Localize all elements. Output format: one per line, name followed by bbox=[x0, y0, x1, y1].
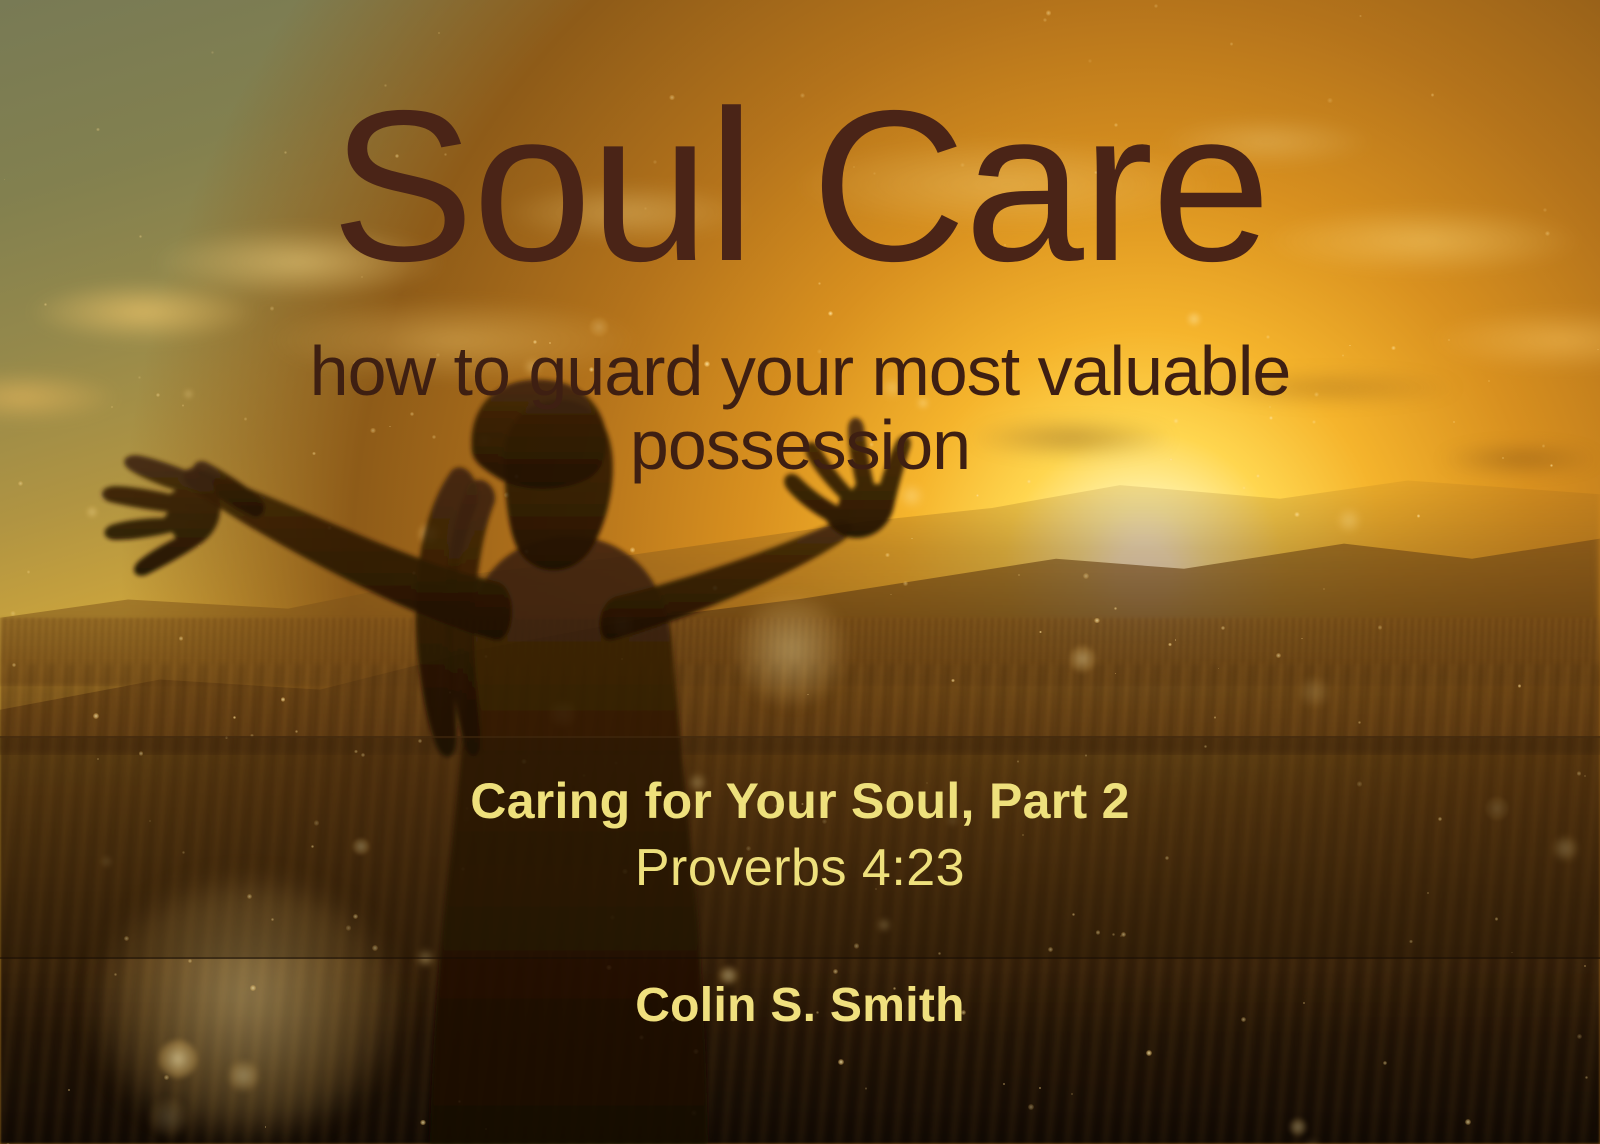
scripture-reference: Proverbs 4:23 bbox=[0, 838, 1600, 898]
series-title: Caring for Your Soul, Part 2 bbox=[0, 772, 1600, 830]
sermon-title-slide: Soul Care how to guard your most valuabl… bbox=[0, 0, 1600, 1144]
page-title: Soul Care bbox=[0, 78, 1600, 293]
page-subtitle: how to guard your most valuable possessi… bbox=[0, 335, 1600, 482]
speaker-name: Colin S. Smith bbox=[0, 978, 1600, 1033]
